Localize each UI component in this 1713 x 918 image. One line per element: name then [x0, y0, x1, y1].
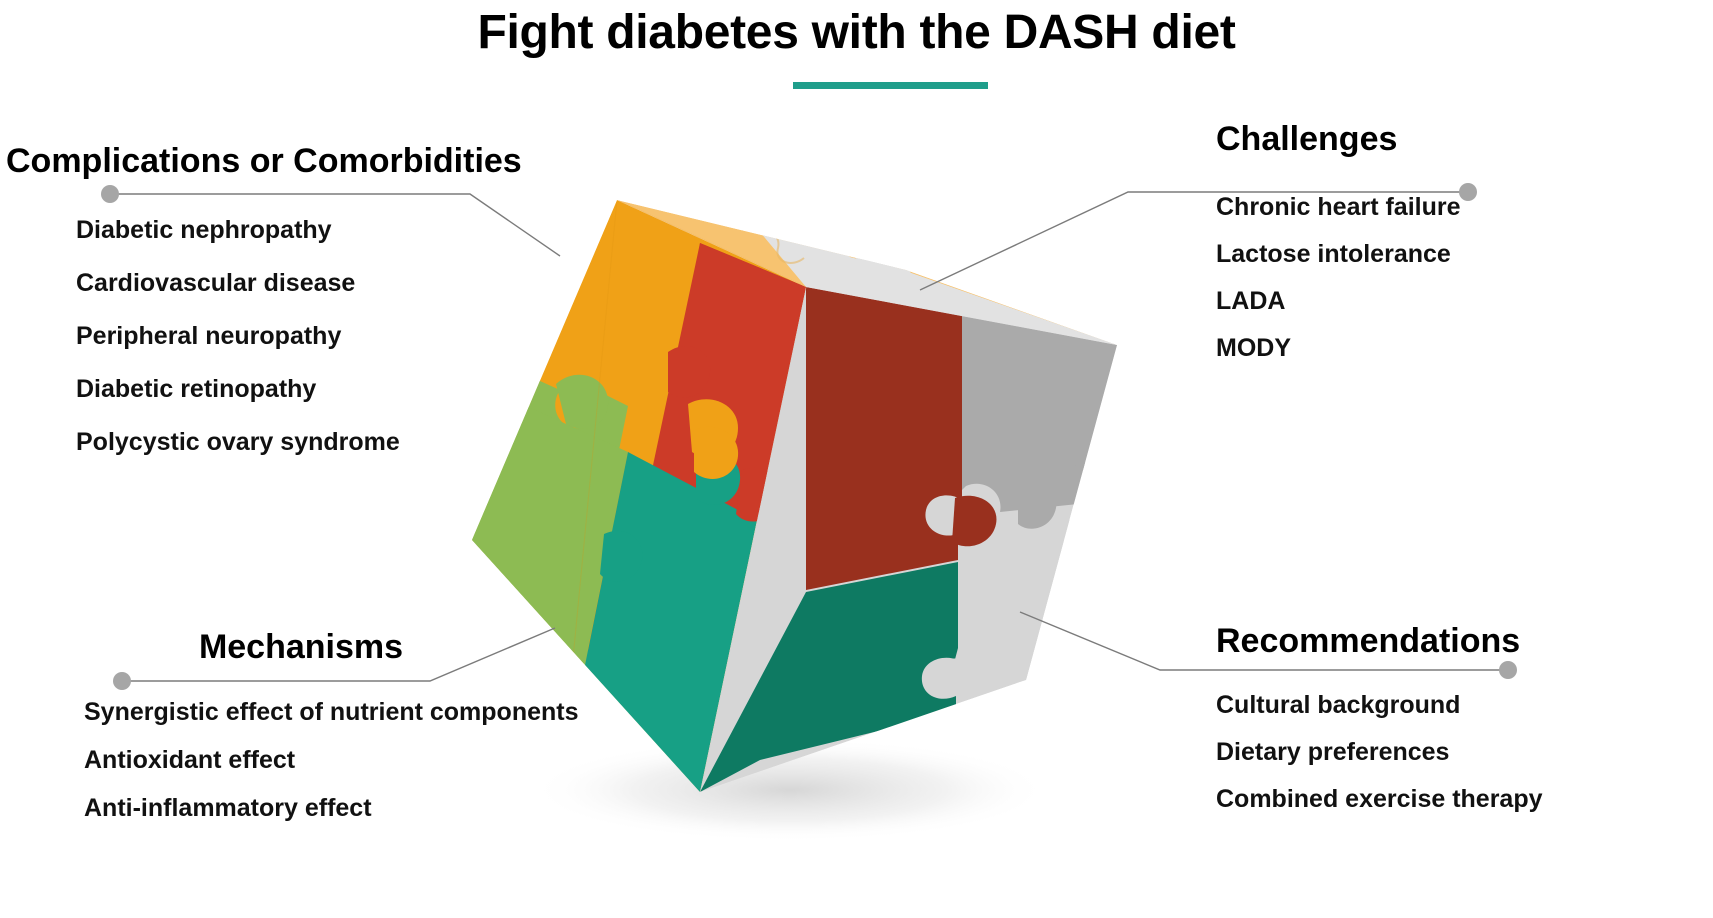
panel-mechanisms: Mechanisms Synergistic effect of nutrien…	[84, 626, 704, 832]
panel-recommendations-heading: Recommendations	[1216, 620, 1713, 662]
list-item: Dietary preferences	[1216, 729, 1713, 776]
list-item: MODY	[1216, 325, 1713, 372]
list-item: Peripheral neuropathy	[76, 310, 522, 363]
list-item: Diabetic nephropathy	[76, 204, 522, 257]
infographic-canvas: Fight diabetes with the DASH diet	[0, 0, 1713, 918]
panel-complications-heading: Complications or Comorbidities	[4, 140, 522, 182]
list-item: Cardiovascular disease	[76, 257, 522, 310]
list-item: LADA	[1216, 278, 1713, 325]
panel-recommendations-list: Cultural background Dietary preferences …	[1216, 662, 1713, 823]
list-item: Diabetic retinopathy	[76, 363, 522, 416]
list-item: Anti-inflammatory effect	[84, 784, 704, 832]
list-item: Polycystic ovary syndrome	[76, 416, 522, 469]
panel-mechanisms-list: Synergistic effect of nutrient component…	[84, 668, 704, 832]
panel-mechanisms-heading: Mechanisms	[84, 626, 704, 668]
list-item: Chronic heart failure	[1216, 184, 1713, 231]
list-item: Lactose intolerance	[1216, 231, 1713, 278]
panel-complications: Complications or Comorbidities Diabetic …	[4, 140, 522, 469]
panel-recommendations: Recommendations Cultural background Diet…	[1216, 620, 1713, 823]
list-item: Cultural background	[1216, 682, 1713, 729]
panel-challenges-heading: Challenges	[1216, 118, 1713, 160]
panel-complications-list: Diabetic nephropathy Cardiovascular dise…	[4, 182, 522, 469]
panel-challenges: Challenges Chronic heart failure Lactose…	[1216, 118, 1713, 372]
list-item: Antioxidant effect	[84, 736, 704, 784]
list-item: Combined exercise therapy	[1216, 776, 1713, 823]
list-item: Synergistic effect of nutrient component…	[84, 688, 704, 736]
panel-challenges-list: Chronic heart failure Lactose intoleranc…	[1216, 160, 1713, 372]
